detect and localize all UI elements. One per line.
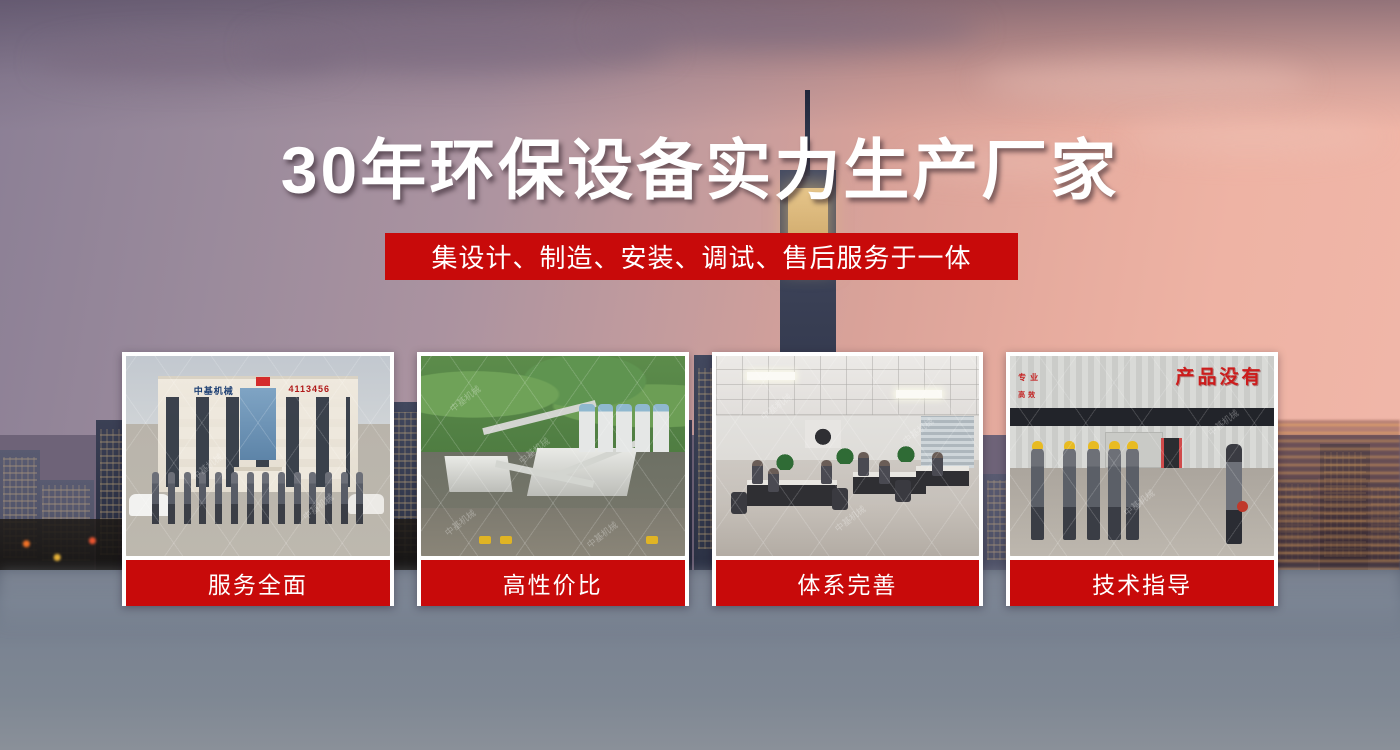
silo-shape	[616, 404, 632, 452]
company-phone-text: 4113456	[288, 384, 330, 394]
person-shape	[768, 468, 779, 492]
ceiling-light	[896, 390, 942, 398]
person-shape	[184, 472, 191, 524]
card-caption: 技术指导	[1010, 560, 1274, 606]
cloud-shape	[980, 60, 1310, 102]
feature-card[interactable]: 产品没有 专业 高效 中基机械 中基机械 技术指导	[1006, 352, 1278, 606]
silo-shape	[598, 404, 614, 452]
person-shape	[858, 452, 869, 476]
person-shape	[152, 472, 159, 524]
person-shape	[231, 472, 238, 524]
photo-office-interior: 中基机械 中基机械 中基机械	[716, 356, 980, 556]
feature-card[interactable]: 中基机械 中基机械 中基机械 体系完善	[712, 352, 984, 606]
flag-icon	[256, 377, 270, 386]
page-title: 30年环保设备实力生产厂家	[0, 137, 1400, 203]
building-entrance-glass	[240, 388, 276, 460]
worker-shape	[1063, 448, 1076, 540]
promotional-banner: 30年环保设备实力生产厂家 集设计、制造、安装、调试、售后服务于一体 中基机械 …	[0, 0, 1400, 750]
feature-card[interactable]: 中基机械 4113456 中基机械 中基机械	[122, 352, 394, 606]
factory-slogan-large: 产品没有	[1175, 362, 1263, 389]
factory-slogan-small: 专业	[1018, 372, 1042, 383]
card-caption-label: 高性价比	[503, 566, 603, 600]
silo-shape	[653, 404, 669, 452]
silo-shape	[635, 404, 651, 452]
subtitle-banner: 集设计、制造、安装、调试、售后服务于一体	[385, 233, 1018, 280]
potted-plant	[834, 446, 856, 464]
person-shape	[752, 460, 763, 484]
feature-card-row: 中基机械 4113456 中基机械 中基机械	[122, 352, 1278, 606]
chair-shape	[895, 480, 911, 502]
worker-shape	[1108, 448, 1121, 540]
potted-plant	[895, 444, 917, 462]
chair-shape	[731, 492, 747, 514]
person-shape	[821, 460, 832, 484]
factory-slogan-small: 高效	[1018, 390, 1038, 400]
subtitle-text: 集设计、制造、安装、调试、售后服务于一体	[431, 238, 971, 275]
worker-shape	[1087, 448, 1100, 540]
person-shape	[278, 472, 285, 524]
excavator-shape	[646, 536, 658, 544]
supervisor-shape	[1226, 444, 1242, 544]
person-shape	[215, 472, 222, 524]
card-caption: 高性价比	[421, 560, 685, 606]
excavator-shape	[500, 536, 512, 544]
red-helmet-icon	[1237, 501, 1248, 512]
photo-industrial-plant: 中基机械 中基机械 中基机械 中基机械	[421, 356, 685, 556]
ceiling-light	[747, 372, 795, 380]
card-caption: 体系完善	[716, 560, 980, 606]
photo-factory-workers: 产品没有 专业 高效 中基机械 中基机械	[1010, 356, 1274, 556]
person-shape	[341, 472, 348, 524]
feature-card[interactable]: 中基机械 中基机械 中基机械 中基机械 高性价比	[417, 352, 689, 606]
photo-company-building: 中基机械 4113456 中基机械 中基机械	[126, 356, 390, 556]
cloud-shape	[600, 10, 980, 48]
factory-side-door	[1161, 438, 1182, 468]
silo-shape	[579, 404, 595, 452]
person-shape	[879, 460, 890, 484]
card-caption-label: 体系完善	[797, 566, 897, 600]
chair-shape	[832, 488, 848, 510]
worker-shape	[1031, 448, 1044, 540]
card-caption: 服务全面	[126, 560, 390, 606]
person-shape	[932, 452, 943, 476]
potted-plant	[774, 452, 796, 470]
excavator-shape	[479, 536, 491, 544]
person-shape	[294, 472, 301, 524]
company-sign-text: 中基机械	[194, 384, 234, 397]
card-caption-label: 技术指导	[1092, 566, 1192, 600]
ceiling-grid	[716, 356, 980, 416]
person-shape	[262, 472, 269, 524]
person-shape	[247, 472, 254, 524]
wall-decoration	[805, 420, 841, 448]
silo-cluster	[579, 404, 669, 452]
card-caption-label: 服务全面	[208, 566, 308, 600]
person-shape	[168, 472, 175, 524]
person-shape	[356, 472, 363, 524]
